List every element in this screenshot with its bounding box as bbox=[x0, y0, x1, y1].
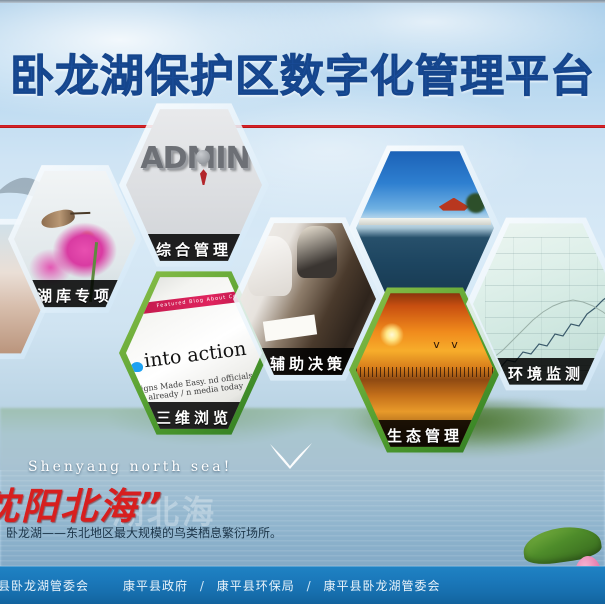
reeds-texture bbox=[356, 367, 494, 377]
flying-birds-icon: v v bbox=[433, 338, 462, 351]
magazine-subtext: signs Made Easy. nd officials already / … bbox=[134, 371, 258, 404]
footer-links: 康平县政府 / 康平县环保局 / 康平县卧龙湖管委会 bbox=[123, 577, 440, 594]
hummingbird-moth-shape bbox=[40, 207, 77, 230]
hex-menu: 湖库专项 ADMIN 综合管理 Featured Blog About Con … bbox=[0, 130, 605, 430]
top-border bbox=[0, 0, 605, 3]
admin-wordmark: ADMIN bbox=[132, 141, 258, 176]
document-on-table-shape bbox=[263, 314, 317, 341]
footer-owner: 康平县卧龙湖管委会 bbox=[0, 577, 89, 594]
magazine-headline: into action bbox=[133, 336, 257, 373]
tagline-english: Shenyang north sea! bbox=[28, 459, 232, 475]
app-root: 卧龙湖保护区数字化管理平台 湖库专项 ADMIN 综合管理 bbox=[0, 0, 605, 604]
title-underline-rule bbox=[0, 125, 605, 128]
footer-link-government[interactable]: 康平县政府 bbox=[123, 579, 188, 593]
footer-link-epb[interactable]: 康平县环保局 bbox=[217, 579, 295, 593]
page-title: 卧龙湖保护区数字化管理平台 bbox=[0, 46, 605, 108]
tagline-chinese: 沈阳北海” bbox=[0, 476, 164, 530]
person-right-shape bbox=[297, 226, 337, 278]
pavilion-roof-shape bbox=[439, 198, 469, 211]
site-footer: 康平县卧龙湖管委会 康平县政府 / 康平县环保局 / 康平县卧龙湖管委会 bbox=[0, 566, 605, 604]
footer-link-committee[interactable]: 康平县卧龙湖管委会 bbox=[323, 579, 440, 593]
footer-separator-2: / bbox=[300, 579, 319, 593]
bridge-shape bbox=[359, 218, 492, 225]
seagull-icon bbox=[268, 440, 314, 470]
tagline-subtitle: 卧龙湖——东北地区最大规模的鸟类栖息繁衍场所。 bbox=[6, 524, 282, 541]
footer-separator-1: / bbox=[193, 579, 212, 593]
